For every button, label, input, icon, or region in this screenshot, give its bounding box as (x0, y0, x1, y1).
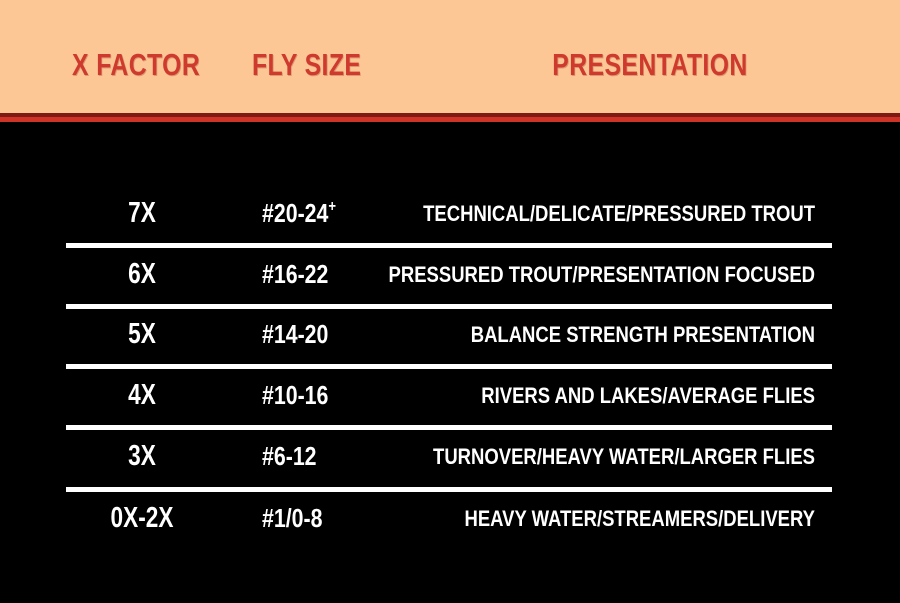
cell-presentation: PRESSURED TROUT/PRESENTATION FOCUSED (479, 244, 815, 305)
fly-size-value: #10-16 (262, 380, 328, 411)
table-row: 7X #20-24+ TECHNICAL/DELICATE/PRESSURED … (0, 183, 900, 244)
cell-presentation: BALANCE STRENGTH PRESENTATION (479, 304, 815, 365)
cell-presentation: TECHNICAL/DELICATE/PRESSURED TROUT (479, 183, 815, 244)
header-column-fly-size: FLY SIZE (252, 48, 361, 82)
table-row: 5X #14-20 BALANCE STRENGTH PRESENTATION (0, 304, 900, 365)
cell-fly-size: #14-20 (262, 304, 418, 365)
fly-size-value: #20-24 (262, 198, 328, 229)
table-row: 4X #10-16 RIVERS AND LAKES/AVERAGE FLIES (0, 365, 900, 426)
cell-x-factor: 5X (94, 304, 191, 365)
cell-x-factor: 6X (94, 244, 191, 305)
cell-fly-size: #1/0-8 (262, 488, 418, 549)
tippet-selection-chart: X FACTOR FLY SIZE PRESENTATION 7X #20-24… (0, 0, 900, 603)
table-row: 3X #6-12 TURNOVER/HEAVY WATER/LARGER FLI… (0, 426, 900, 487)
cell-x-factor: 4X (94, 365, 191, 426)
table-row: 0X-2X #1/0-8 HEAVY WATER/STREAMERS/DELIV… (0, 488, 900, 549)
chart-body: 7X #20-24+ TECHNICAL/DELICATE/PRESSURED … (0, 122, 900, 603)
header-column-presentation: PRESENTATION (552, 48, 747, 82)
fly-size-value: #6-12 (262, 441, 317, 472)
fly-size-value: #1/0-8 (262, 503, 322, 534)
fly-size-value: #16-22 (262, 259, 328, 290)
cell-fly-size: #20-24+ (262, 183, 418, 244)
cell-x-factor: 0X-2X (94, 488, 191, 549)
cell-presentation: TURNOVER/HEAVY WATER/LARGER FLIES (479, 426, 815, 487)
cell-presentation: HEAVY WATER/STREAMERS/DELIVERY (479, 488, 815, 549)
cell-fly-size: #10-16 (262, 365, 418, 426)
fly-size-value: #14-20 (262, 319, 328, 350)
cell-fly-size: #6-12 (262, 426, 418, 487)
table-row: 6X #16-22 PRESSURED TROUT/PRESENTATION F… (0, 244, 900, 305)
header-column-x-factor: X FACTOR (72, 48, 200, 82)
cell-presentation: RIVERS AND LAKES/AVERAGE FLIES (479, 365, 815, 426)
chart-header: X FACTOR FLY SIZE PRESENTATION (0, 0, 900, 113)
cell-x-factor: 7X (94, 183, 191, 244)
cell-x-factor: 3X (94, 426, 191, 487)
